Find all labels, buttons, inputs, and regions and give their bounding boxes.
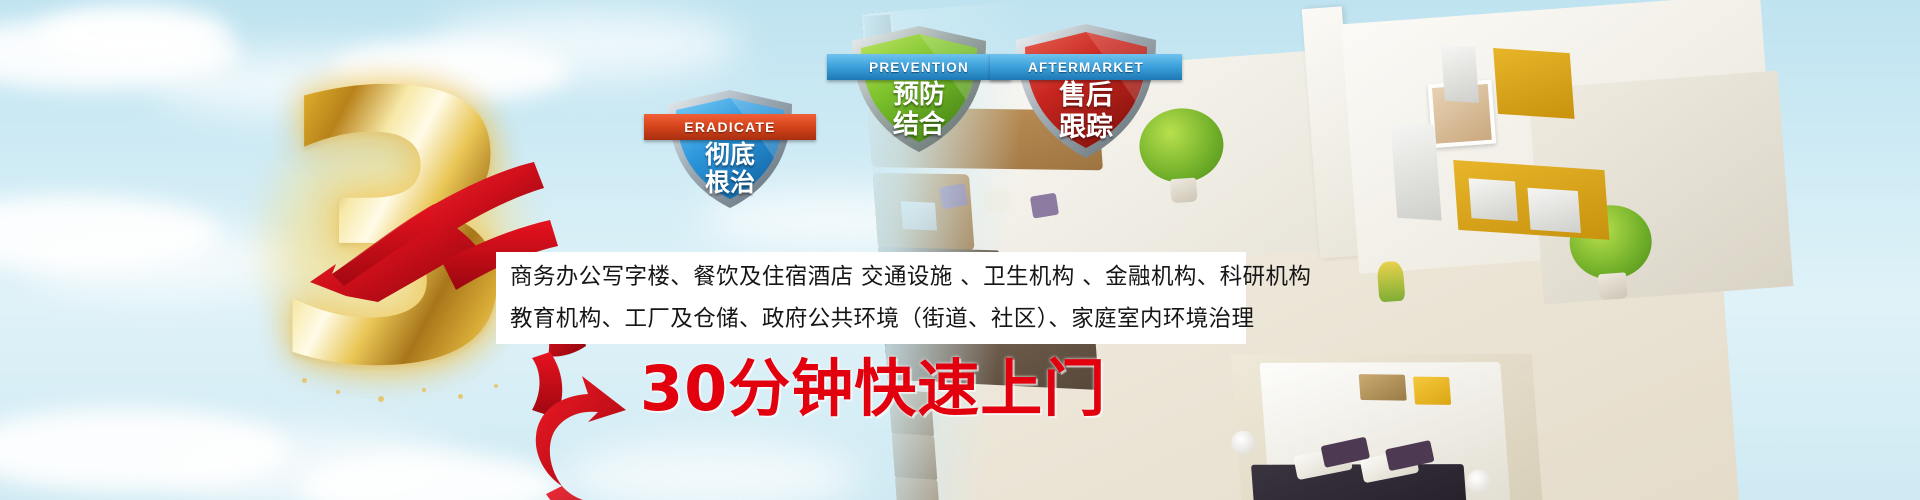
sparkle-dot [302,378,307,383]
sparkle-dot [336,390,340,394]
refrigerator [1390,122,1441,221]
shield-prevention: PREVENTION 预防 结合 [846,24,992,154]
headline-text: 30分钟快速上门 [640,358,1106,420]
shield-text-eradicate-line2: 根治 [662,170,798,196]
shield-banner-eradicate: ERADICATE [644,114,815,140]
bed-tray [1359,374,1407,401]
cloud-shape [40,6,230,62]
service-scope-line-1: 商务办公写字楼、餐饮及住宿酒店 交通设施 、卫生机构 、金融机构、科研机构 [510,256,1232,298]
table-centerpiece [1377,261,1406,303]
laptop [901,201,937,231]
shield-text-aftermarket-line1: 售后 [1010,82,1162,110]
service-scope-panel: 商务办公写字楼、餐饮及住宿酒店 交通设施 、卫生机构 、金融机构、科研机构 教育… [496,252,1246,344]
shield-eradicate: ERADICATE 彻底 根治 [662,88,798,210]
shield-banner-prevention: PREVENTION [827,54,1011,80]
sofa-cushion [983,188,1012,214]
dining-chair [892,433,938,480]
shield-aftermarket: AFTERMARKET 售后 跟踪 [1010,22,1162,160]
headboard [1251,464,1467,500]
oven [1469,178,1518,221]
dishwasher [1527,188,1580,233]
shield-text-aftermarket-line2: 跟踪 [1010,114,1162,142]
bed-folded-blanket [1413,377,1451,405]
range-hood [1441,45,1479,103]
dining-chair [895,477,941,500]
sparkle-dot [378,396,384,402]
service-scope-line-2: 教育机构、工厂及仓储、政府公共环境（街道、社区）、家庭室内环境治理 [510,298,1232,340]
promo-banner: 3 [0,0,1920,500]
shield-banner-aftermarket: AFTERMARKET [990,54,1182,80]
plant-pot [1598,272,1628,300]
plant-pot [1170,177,1198,203]
sofa-cushion [939,183,968,209]
sofa-cushion [1030,193,1059,219]
shield-text-prevention-line2: 结合 [846,112,992,139]
shield-text-prevention-line1: 预防 [846,82,992,109]
kitchen-upper-cabinet [1493,48,1574,119]
shield-text-eradicate-line1: 彻底 [662,142,798,168]
sparkle-dot [458,394,463,399]
sparkle-dot [422,388,426,392]
